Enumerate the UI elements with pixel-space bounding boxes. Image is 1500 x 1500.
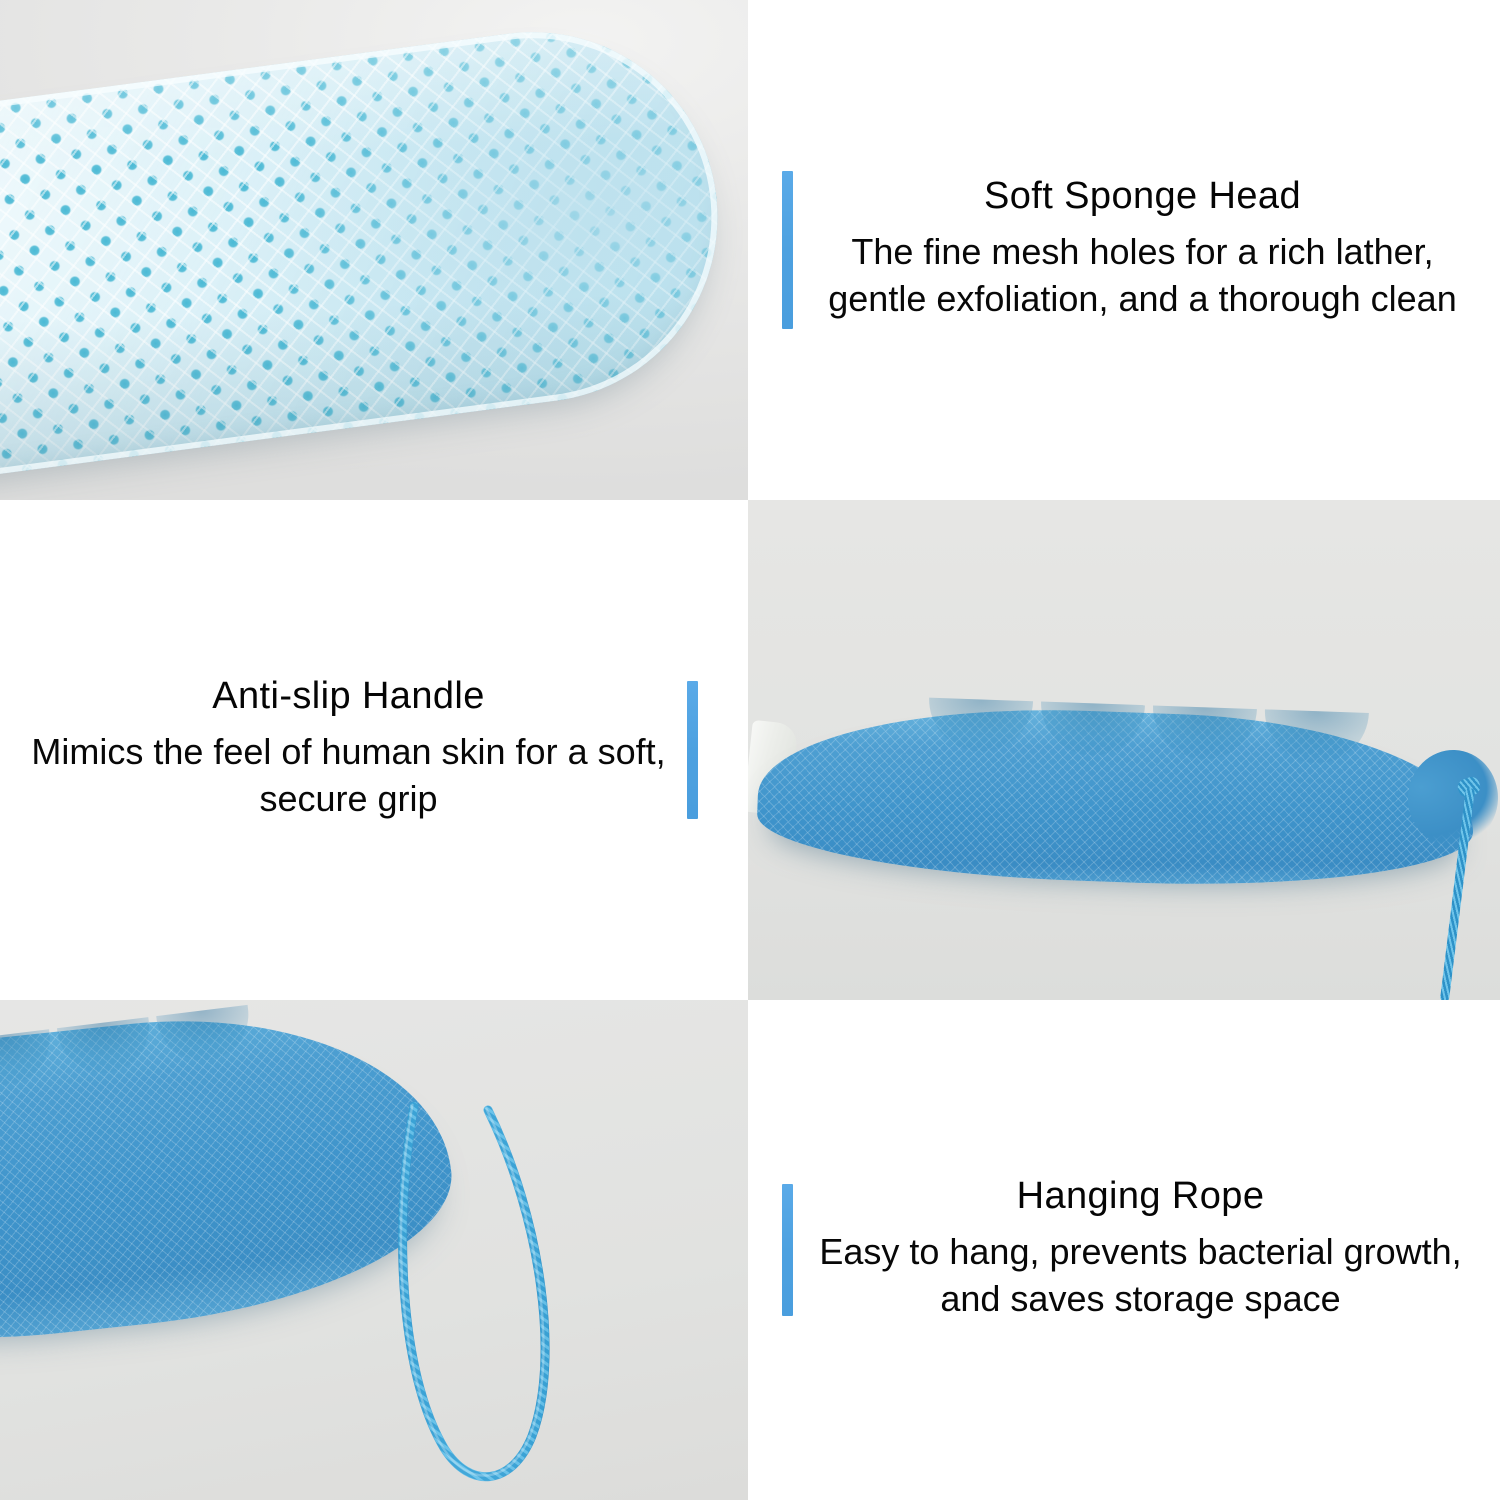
feature-title-handle: Anti-slip Handle <box>20 677 677 715</box>
product-feature-infographic: Soft Sponge Head The fine mesh holes for… <box>0 0 1500 1500</box>
sponge-head-shape <box>0 10 740 500</box>
feature-description-handle: Mimics the feel of human skin for a soft… <box>20 729 677 823</box>
sponge-head-photo <box>0 0 748 500</box>
feature-description-rope: Easy to hang, prevents bacterial growth,… <box>803 1229 1478 1323</box>
feature-title-sponge: Soft Sponge Head <box>803 177 1482 215</box>
accent-bar-icon <box>782 171 793 329</box>
accent-bar-icon <box>687 681 698 819</box>
hanging-rope-loop <box>392 1100 567 1488</box>
caption-soft-sponge-head: Soft Sponge Head The fine mesh holes for… <box>748 0 1500 500</box>
anti-slip-handle-photo <box>748 500 1500 1000</box>
feature-description-sponge: The fine mesh holes for a rich lather, g… <box>803 229 1482 323</box>
caption-hanging-rope: Hanging Rope Easy to hang, prevents bact… <box>748 1000 1500 1500</box>
caption-text-handle: Anti-slip Handle Mimics the feel of huma… <box>20 677 677 823</box>
caption-text-rope: Hanging Rope Easy to hang, prevents bact… <box>803 1177 1478 1323</box>
handle-body-shape <box>755 700 1476 895</box>
caption-anti-slip-handle: Anti-slip Handle Mimics the feel of huma… <box>0 500 748 1000</box>
accent-bar-icon <box>782 1184 793 1316</box>
caption-text-sponge: Soft Sponge Head The fine mesh holes for… <box>803 177 1482 323</box>
sponge-edge-rim <box>0 10 740 500</box>
hanging-rope-photo <box>0 1000 748 1500</box>
feature-title-rope: Hanging Rope <box>803 1177 1478 1215</box>
